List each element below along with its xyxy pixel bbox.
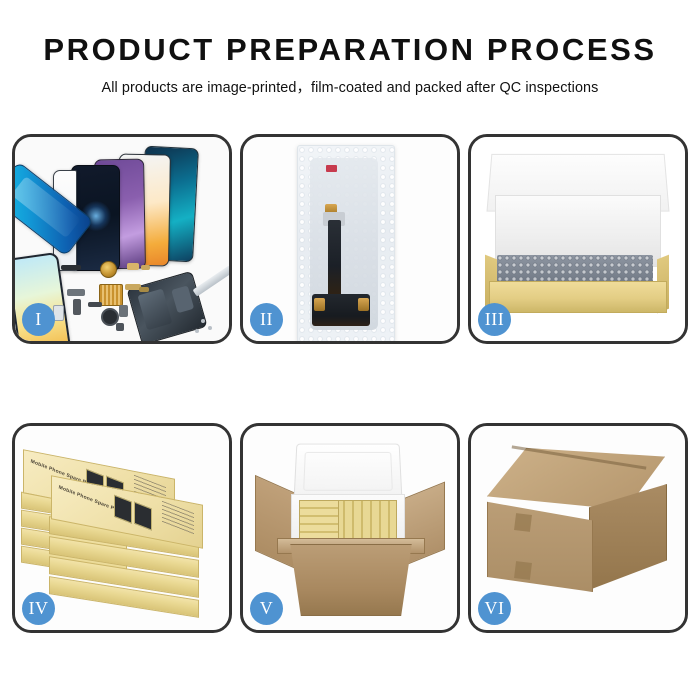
page-subtitle: All products are image-printed，film-coat…: [0, 67, 700, 97]
process-step-panel-1[interactable]: I: [12, 134, 232, 344]
copper-coil-part: [100, 261, 117, 278]
process-step-grid: I II III: [12, 134, 688, 634]
step-badge-1: I: [22, 303, 55, 336]
page-header: PRODUCT PREPARATION PROCESS All products…: [0, 0, 700, 97]
carton-body: [285, 544, 417, 616]
gold-chip-part: [99, 284, 123, 306]
step-badge-3: III: [478, 303, 511, 336]
carton-tape-bottom: [514, 561, 532, 580]
carton-tape-top: [514, 513, 532, 532]
step-badge-6: VI: [478, 592, 511, 625]
process-step-panel-2[interactable]: II: [240, 134, 460, 344]
red-sticker: [326, 165, 337, 172]
box-stack: Mobile Phone Spare Parts Mobile Phone Sp…: [19, 442, 229, 622]
flex-cable: [328, 220, 341, 304]
foam-box-lid: [294, 444, 403, 500]
page-title: PRODUCT PREPARATION PROCESS: [0, 0, 700, 67]
bubble-wrap-bag: [297, 145, 395, 341]
kraft-box-front: [489, 281, 667, 313]
process-step-panel-3[interactable]: III: [468, 134, 688, 344]
step-badge-2: II: [250, 303, 283, 336]
step-badge-4: IV: [22, 592, 55, 625]
process-step-panel-6[interactable]: VI: [468, 423, 688, 633]
step-badge-5: V: [250, 592, 283, 625]
process-step-panel-4[interactable]: Mobile Phone Spare Parts Mobile Phone Sp…: [12, 423, 232, 633]
process-step-panel-5[interactable]: V: [240, 423, 460, 633]
